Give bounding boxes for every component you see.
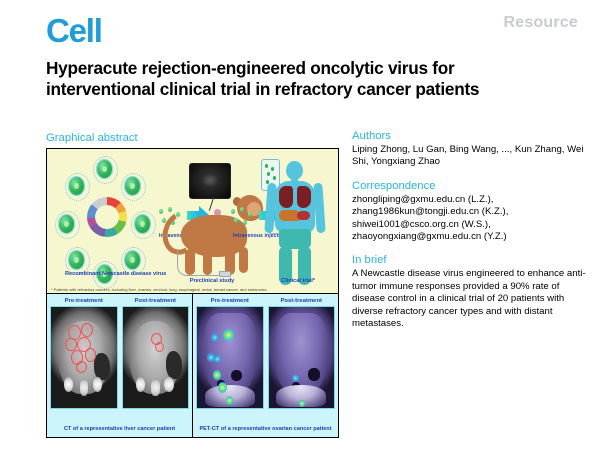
virus-particle-icon [135, 215, 150, 233]
correspondence-email[interactable]: zhang1986kun@tongji.edu.cn (K.Z.), [352, 206, 587, 218]
scan-label-ct-post: Post-treatment [122, 297, 190, 306]
article-type-label: Resource [503, 14, 578, 32]
graphical-abstract-footnote: * Patients with refractory cancers, incl… [51, 287, 266, 292]
patient-arm-right [313, 183, 325, 234]
scan-image-ct-post [122, 306, 190, 409]
scan-captions: CT of a representative liver cancer pati… [47, 422, 338, 437]
stage-caption-clinical: Clinical trial* [265, 278, 331, 285]
scan-label-petct-pre: Pre-treatment [196, 297, 264, 306]
lung-left-icon [279, 186, 293, 208]
in-brief-text: A Newcastle disease virus engineered to … [352, 268, 587, 330]
correspondence-emails: zhongliping@gxmu.edu.cn (L.Z.), zhang198… [352, 194, 587, 244]
correspondence-email[interactable]: zhongliping@gxmu.edu.cn (L.Z.), [352, 194, 587, 206]
cell-journal-logo: Cell [46, 14, 102, 47]
scan-comparison-section: Pre-treatment Post-treatment [47, 294, 338, 437]
article-preview-page: Cell Resource Hyperacute rejection-engin… [0, 0, 600, 457]
scan-caption-ct: CT of a representative liver cancer pati… [47, 422, 192, 437]
page-title: Hyperacute rejection-engineered oncolyti… [46, 58, 558, 99]
stage-caption-clinical-line1: Clinical trial* [281, 278, 315, 284]
virus-particle-icon [125, 177, 140, 195]
stage-caption-virus-line2: Newcastle disease virus [102, 271, 166, 277]
authors-heading: Authors [352, 130, 587, 142]
scan-caption-petct: PET-CT of a representative ovarian cance… [192, 422, 338, 437]
correspondence-email[interactable]: zhaoyongxiang@gxmu.edu.cn (Y.Z.) [352, 231, 587, 243]
stage-caption-virus-line1: Recombinant [65, 271, 100, 277]
correspondence-heading: Correspondence [352, 180, 587, 192]
patient-hip [279, 229, 311, 249]
iv-tubing [177, 249, 224, 276]
virus-particle-icon [97, 160, 112, 178]
scan-image-ct-pre [50, 306, 118, 409]
virus-particle-icon [69, 177, 84, 195]
virus-particle-icon [125, 251, 140, 269]
iv-connector [219, 271, 231, 277]
preclinical-monkey-group [159, 157, 274, 282]
plasmid-map-icon [87, 197, 127, 237]
correspondence-block: Correspondence zhongliping@gxmu.edu.cn (… [352, 180, 587, 244]
graphical-abstract-heading: Graphical abstract [46, 132, 138, 144]
scan-label-ct-pre: Pre-treatment [50, 297, 118, 306]
authors-list: Liping Zhong, Lu Gan, Bing Wang, ..., Ku… [352, 144, 587, 169]
organ-icon [297, 211, 310, 220]
virus-particle-icon [59, 215, 74, 233]
virus-dots-group-2 [231, 207, 253, 227]
ultrasound-monitor-icon [189, 163, 231, 199]
correspondence-email[interactable]: shiwei1001@csco.org.cn (W.S.), [352, 219, 587, 231]
scan-group-ct: Pre-treatment Post-treatment [47, 294, 192, 437]
virus-particle-icon [69, 251, 84, 269]
graphical-abstract-panel: Recombinant Newcastle disease virus Intr… [46, 148, 339, 438]
metadata-column: Authors Liping Zhong, Lu Gan, Bing Wang,… [352, 130, 587, 341]
in-brief-heading: In brief [352, 254, 587, 266]
stage-caption-virus: Recombinant Newcastle disease virus [65, 271, 147, 278]
scan-label-petct-post: Post-treatment [268, 297, 336, 306]
clinical-trial-patient-group [259, 155, 338, 287]
stage-caption-preclinical-line1: Preclinical study [190, 278, 234, 284]
stage-caption-preclinical: Preclinical study [167, 278, 257, 285]
iv-line-to-arm [269, 233, 279, 234]
authors-block: Authors Liping Zhong, Lu Gan, Bing Wang,… [352, 130, 587, 169]
lung-right-icon [297, 186, 311, 208]
in-brief-block: In brief A Newcastle disease virus engin… [352, 254, 587, 330]
scan-image-petct-pre [196, 306, 264, 409]
ultrasound-probe-icon [209, 197, 214, 211]
graphical-abstract-schematic: Recombinant Newcastle disease virus Intr… [47, 149, 338, 294]
monkey-leg [239, 247, 248, 273]
scan-group-petct: Pre-treatment Post-treatment [192, 294, 338, 437]
scan-image-petct-post [268, 306, 336, 409]
